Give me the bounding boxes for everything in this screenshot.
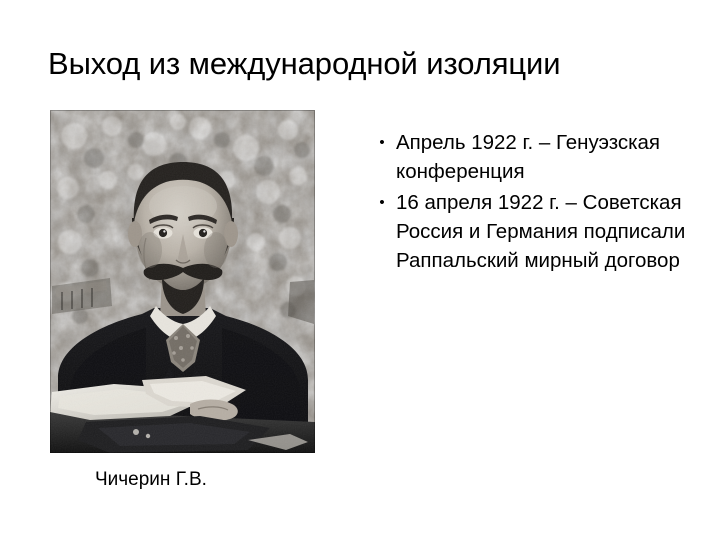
- slide-title: Выход из международной изоляции: [48, 44, 688, 84]
- portrait-photo[interactable]: [50, 110, 315, 453]
- list-item: • Апрель 1922 г. – Генуэзская конференци…: [368, 128, 688, 186]
- photo-caption: Чичерин Г.В.: [95, 468, 207, 492]
- list-item: • 16 апреля 1922 г. – Советская Россия и…: [368, 188, 688, 275]
- bullet-list: • Апрель 1922 г. – Генуэзская конференци…: [368, 128, 688, 277]
- list-item-text: 16 апреля 1922 г. – Советская Россия и Г…: [396, 188, 688, 275]
- presentation-slide: Выход из международной изоляции: [0, 0, 720, 540]
- list-item-text: Апрель 1922 г. – Генуэзская конференция: [396, 128, 688, 186]
- portrait-photo-image: [50, 110, 315, 453]
- bullet-point-icon: •: [375, 188, 389, 217]
- bullet-point-icon: •: [375, 128, 389, 157]
